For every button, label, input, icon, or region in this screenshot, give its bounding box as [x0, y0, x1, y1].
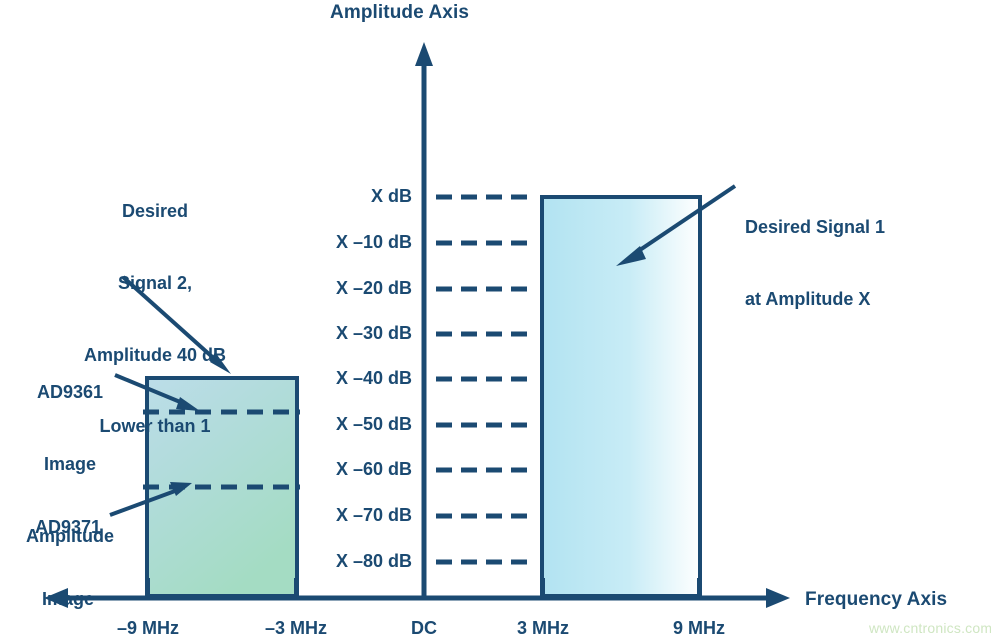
y-tick-label-x-minus-10-db: X –10 dB: [302, 232, 412, 253]
annotation-ad9371-line-2: Image: [6, 588, 130, 612]
annotation-desired-signal-1: Desired Signal 1 at Amplitude X: [745, 168, 985, 360]
bar-desired-signal-1-rect: [542, 197, 700, 596]
x-tick-label-minus-3-mhz: –3 MHz: [236, 618, 356, 639]
x-tick-label-9-mhz: 9 MHz: [639, 618, 759, 639]
amplitude-axis: [415, 42, 433, 596]
y-tick-label-x-minus-50-db: X –50 dB: [302, 414, 412, 435]
x-tick-label-3-mhz: 3 MHz: [483, 618, 603, 639]
frequency-axis-title: Frequency Axis: [805, 589, 947, 611]
x-tick-label-dc: DC: [364, 618, 484, 639]
amplitude-tick-gridlines: [436, 197, 530, 562]
watermark: www.cntronics.com: [869, 620, 991, 636]
annotation-ad9361-line-1: AD9361: [6, 381, 134, 405]
annotation-ad9371-image-amplitude: AD9371 Image Amplitude: [6, 468, 130, 644]
annotation-desired-signal-2-line-2: Signal 2,: [40, 272, 270, 296]
amplitude-axis-title: Amplitude Axis: [330, 2, 469, 24]
annotation-desired-signal-1-line-2: at Amplitude X: [745, 288, 985, 312]
figure-canvas: Amplitude Axis Frequency Axis X dB X –10…: [0, 0, 991, 644]
y-tick-label-x-minus-20-db: X –20 dB: [302, 278, 412, 299]
frequency-axis-right-arrowhead: [766, 588, 790, 608]
y-tick-label-x-minus-70-db: X –70 dB: [302, 505, 412, 526]
y-tick-label-x-db: X dB: [302, 186, 412, 207]
annotation-desired-signal-2-line-1: Desired: [40, 200, 270, 224]
bar-desired-signal-1: [542, 197, 700, 596]
y-tick-label-x-minus-30-db: X –30 dB: [302, 323, 412, 344]
annotation-desired-signal-1-line-1: Desired Signal 1: [745, 216, 985, 240]
y-tick-label-x-minus-40-db: X –40 dB: [302, 368, 412, 389]
annotation-ad9371-line-1: AD9371: [6, 516, 130, 540]
y-tick-label-x-minus-60-db: X –60 dB: [302, 459, 412, 480]
amplitude-axis-arrowhead: [415, 42, 433, 66]
y-tick-label-x-minus-80-db: X –80 dB: [302, 551, 412, 572]
